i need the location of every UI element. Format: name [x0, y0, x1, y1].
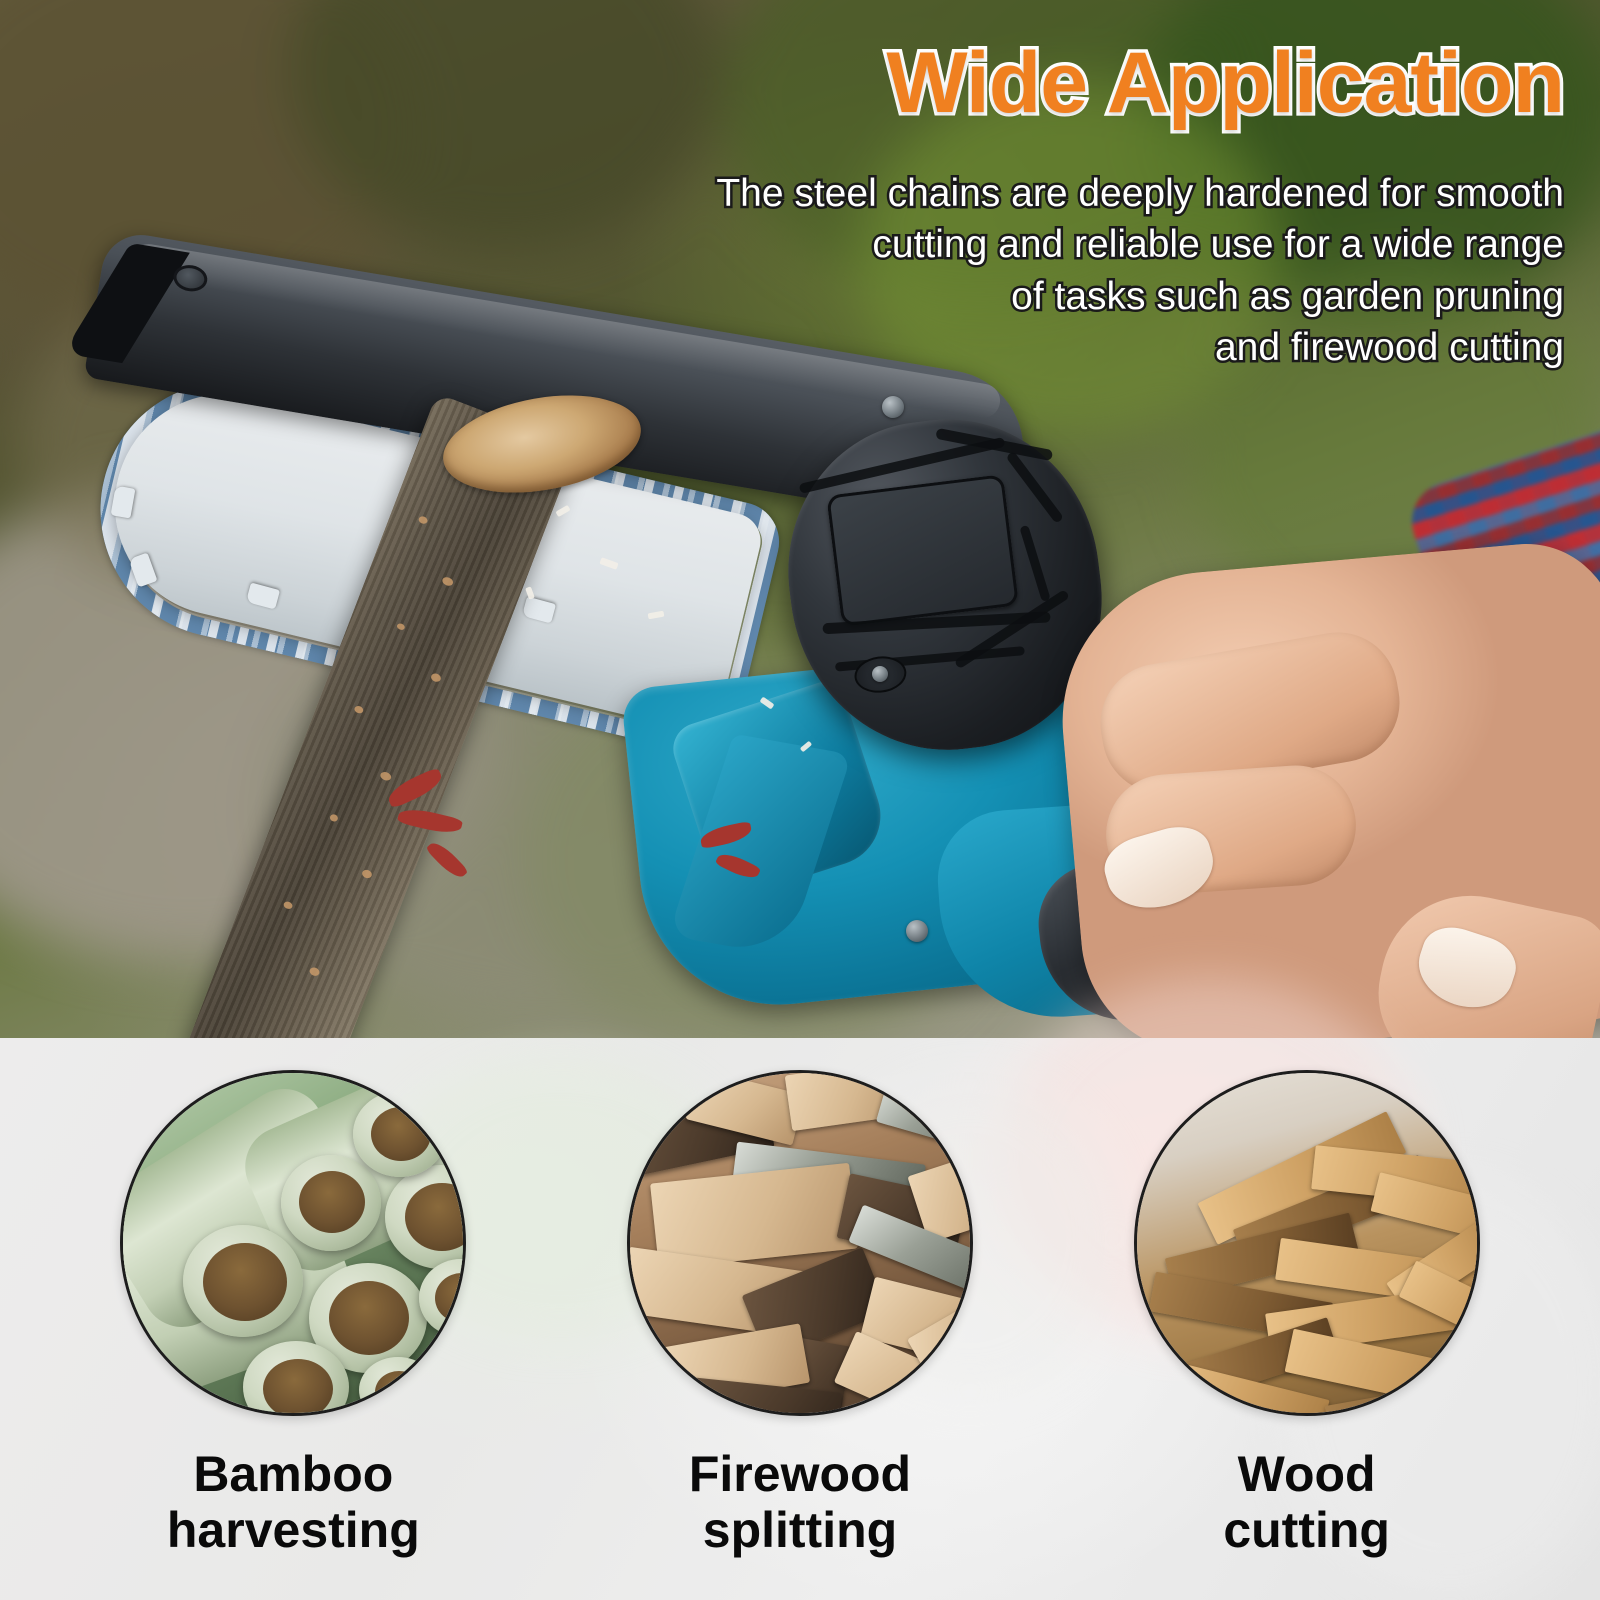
- card-caption: Firewood splitting: [689, 1446, 911, 1558]
- caption-line-2: splitting: [689, 1502, 911, 1558]
- caption-line-1: Firewood: [689, 1446, 911, 1502]
- subtitle-line: and firewood cutting: [604, 322, 1564, 373]
- card-caption: Wood cutting: [1223, 1446, 1390, 1558]
- motor-plate: [826, 474, 1019, 627]
- use-cases-list: Bamboo harvesting: [0, 1038, 1600, 1600]
- caption-line-1: Bamboo: [167, 1446, 420, 1502]
- page-title: Wide Application: [544, 40, 1564, 128]
- caption-line-2: cutting: [1223, 1502, 1390, 1558]
- caption-line-1: Wood: [1223, 1446, 1390, 1502]
- cover-mount-hole: [171, 263, 209, 294]
- hero-product-photo: Wide Application The steel chains are de…: [0, 0, 1600, 1038]
- wood-cutting-image: [1134, 1070, 1480, 1416]
- subtitle-line: The steel chains are deeply hardened for…: [604, 168, 1564, 219]
- use-case-card-wood[interactable]: Wood cutting: [1097, 1038, 1517, 1558]
- product-feature-banner: Wide Application The steel chains are de…: [0, 0, 1600, 1600]
- subtitle-line: cutting and reliable use for a wide rang…: [604, 219, 1564, 270]
- card-caption: Bamboo harvesting: [167, 1446, 420, 1558]
- subtitle-line: of tasks such as garden pruning: [604, 271, 1564, 322]
- firewood-splitting-image: [627, 1070, 973, 1416]
- caption-line-2: harvesting: [167, 1502, 420, 1558]
- cover-notch: [63, 243, 190, 363]
- use-case-card-bamboo[interactable]: Bamboo harvesting: [83, 1038, 503, 1558]
- bamboo-harvesting-image: [120, 1070, 466, 1416]
- use-case-card-firewood[interactable]: Firewood splitting: [590, 1038, 1010, 1558]
- subtitle-copy: The steel chains are deeply hardened for…: [604, 168, 1564, 374]
